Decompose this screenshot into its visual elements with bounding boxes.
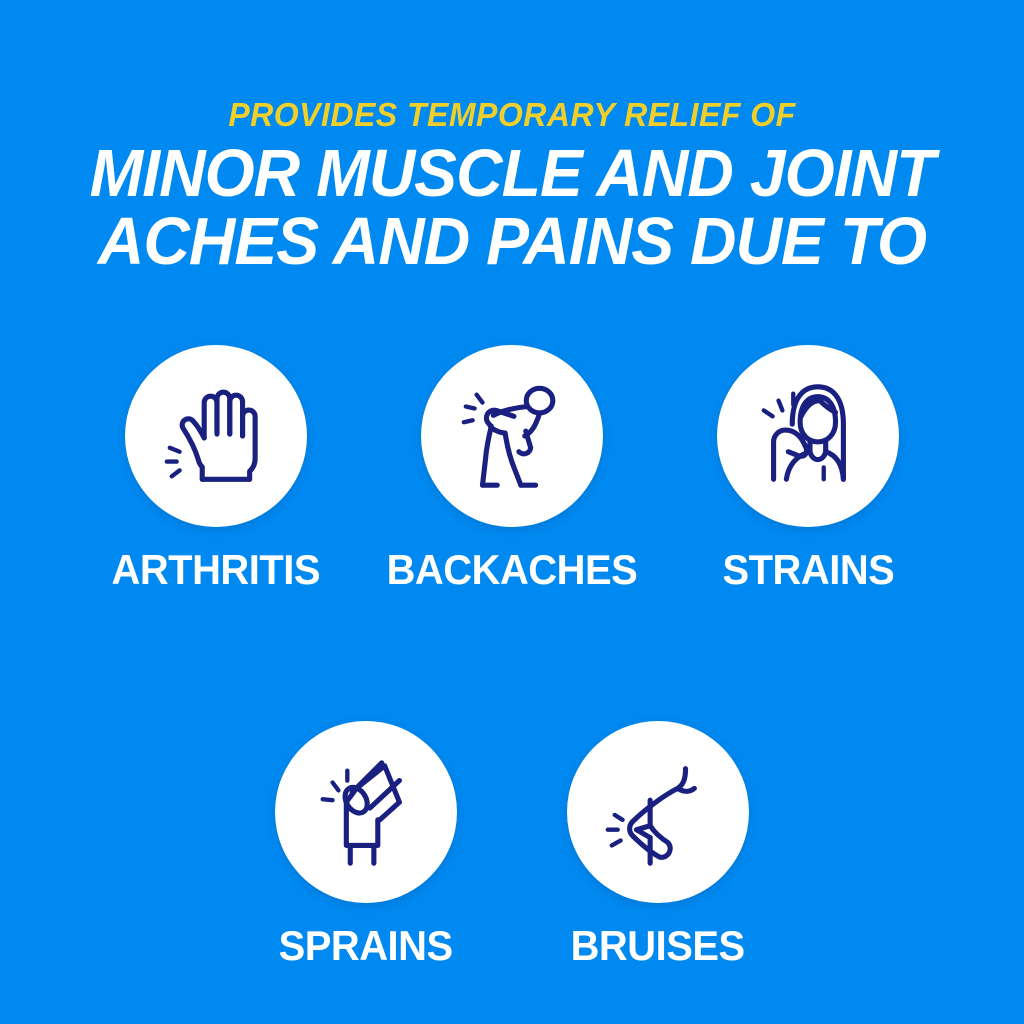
poster-root: PROVIDES TEMPORARY RELIEF OF MINOR MUSCL…: [0, 0, 1024, 1024]
headline-line-2: ACHES AND PAINS DUE TO: [20, 208, 1003, 276]
condition-item-strains[interactable]: STRAINS: [717, 345, 899, 593]
person-neck-pain-icon: [749, 377, 867, 495]
ankle-foot-pain-icon: [307, 753, 425, 871]
condition-label-arthritis: ARTHRITIS: [112, 547, 321, 593]
bent-arm-elbow-pain-icon: [599, 753, 717, 871]
icon-bubble-bruises: [567, 721, 749, 903]
headline-line-1: MINOR MUSCLE AND JOINT: [20, 140, 1003, 208]
condition-label-sprains: SPRAINS: [279, 923, 453, 969]
headline-block: PROVIDES TEMPORARY RELIEF OF MINOR MUSCL…: [0, 96, 1024, 276]
condition-label-bruises: BRUISES: [571, 923, 745, 969]
conditions-row-2: SPRAINS: [0, 721, 1024, 969]
icon-bubble-arthritis: [125, 345, 307, 527]
condition-item-bruises[interactable]: BRUISES: [567, 721, 749, 969]
condition-label-backaches: BACKACHES: [387, 547, 638, 593]
headline-eyebrow: PROVIDES TEMPORARY RELIEF OF: [15, 96, 1008, 134]
conditions-grid: ARTHRITIS: [0, 345, 1024, 969]
hunched-person-back-pain-icon: [453, 377, 571, 495]
condition-item-backaches[interactable]: BACKACHES: [421, 345, 603, 593]
icon-bubble-backaches: [421, 345, 603, 527]
conditions-row-1: ARTHRITIS: [0, 345, 1024, 593]
condition-item-sprains[interactable]: SPRAINS: [275, 721, 457, 969]
condition-item-arthritis[interactable]: ARTHRITIS: [125, 345, 307, 593]
icon-bubble-strains: [717, 345, 899, 527]
hand-pain-icon: [157, 377, 275, 495]
icon-bubble-sprains: [275, 721, 457, 903]
condition-label-strains: STRAINS: [722, 547, 894, 593]
